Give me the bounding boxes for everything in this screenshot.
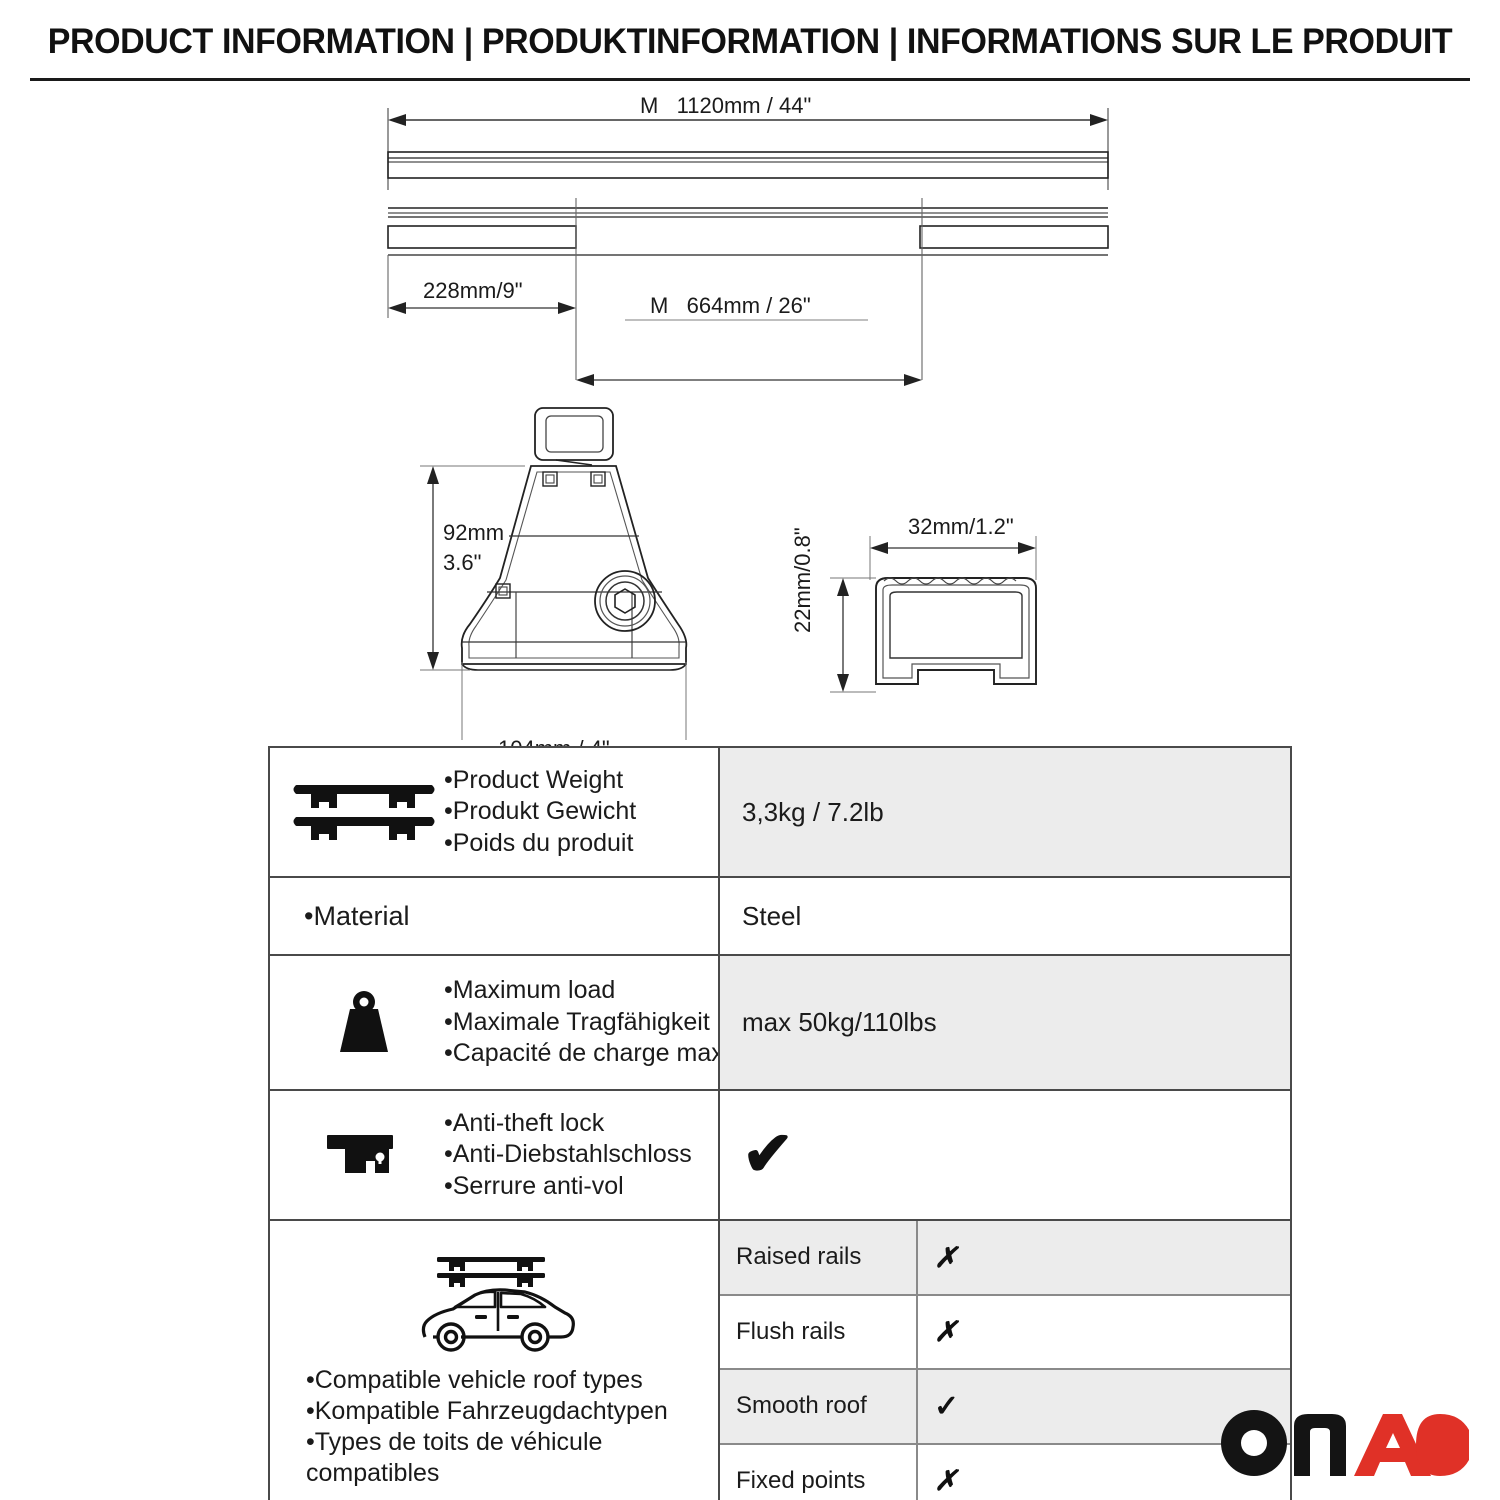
sub-row-label: Flush rails — [720, 1296, 916, 1369]
label-en: •Compatible vehicle roof types — [306, 1365, 708, 1396]
label-fr: •Types de toits de véhicule compatibles — [306, 1427, 708, 1489]
value-maximum-load: max 50kg/110lbs — [718, 956, 1290, 1089]
roof-row-labels: •Compatible vehicle roof types •Kompatib… — [280, 1365, 708, 1489]
omac-logo — [1220, 1406, 1472, 1480]
dim-profile-width: 32mm/1.2" — [908, 514, 1014, 540]
value-anti-theft-lock: ✔ — [718, 1091, 1290, 1219]
row-label-cell: •Product Weight •Produkt Gewicht •Poids … — [270, 748, 718, 876]
row-labels: •Anti-theft lock •Anti-Diebstahlschloss … — [444, 1108, 710, 1203]
label-de: •Kompatible Fahrzeugdachtypen — [306, 1396, 708, 1427]
drawing-svg — [0, 80, 1500, 740]
dim-foot-offset: 228mm/9" — [423, 278, 523, 304]
table-row-anti-theft-lock: •Anti-theft lock •Anti-Diebstahlschloss … — [270, 1091, 1290, 1221]
cross-icon: ✗ — [934, 1464, 957, 1497]
dim-value: 1120mm / 44" — [677, 93, 812, 118]
row-labels: •Material — [304, 899, 710, 933]
dim-foot-height: 92mm — [443, 520, 504, 546]
dim-foot-height-inch: 3.6" — [443, 550, 481, 576]
crossbars-icon — [284, 777, 444, 847]
logo-letter-m — [1294, 1414, 1346, 1476]
technical-drawing: M 1120mm / 44" 228mm/9" M 664mm / 26" 92… — [0, 80, 1500, 740]
dim-prefix-m2: M — [650, 293, 668, 318]
label-de: •Produkt Gewicht — [444, 796, 710, 828]
row-label-cell: •Compatible vehicle roof types •Kompatib… — [270, 1221, 718, 1500]
sub-row-raised-rails: Raised rails ✗ — [720, 1221, 1290, 1296]
row-labels: •Product Weight •Produkt Gewicht •Poids … — [444, 765, 710, 860]
specifications-table: •Product Weight •Produkt Gewicht •Poids … — [268, 746, 1292, 1500]
dim-bar-length: M 1120mm / 44" — [640, 93, 811, 119]
dim-profile-height: 22mm/0.8" — [790, 527, 816, 633]
omac-logo-svg — [1220, 1408, 1472, 1478]
sub-row-label: Smooth roof — [720, 1370, 916, 1443]
logo-letter-c — [1416, 1414, 1469, 1476]
sub-row-label: Fixed points — [720, 1445, 916, 1500]
sub-row-fixed-points: Fixed points ✗ — [720, 1445, 1290, 1500]
table-row-maximum-load: •Maximum load •Maximale Tragfähigkeit •C… — [270, 956, 1290, 1091]
checkmark-icon: ✔ — [742, 1124, 794, 1186]
table-row-product-weight: •Product Weight •Produkt Gewicht •Poids … — [270, 748, 1290, 878]
label-en: •Product Weight — [444, 765, 710, 797]
check-icon: ✓ — [934, 1389, 959, 1424]
lock-foot-icon — [284, 1125, 444, 1185]
dim-value2: 664mm / 26" — [687, 293, 811, 318]
label-de: •Anti-Diebstahlschloss — [444, 1139, 710, 1171]
dim-bar-spread: M 664mm / 26" — [650, 293, 811, 319]
product-information-page: PRODUCT INFORMATION | PRODUKTINFORMATION… — [0, 0, 1500, 1500]
sub-row-mark: ✗ — [916, 1221, 1290, 1294]
sub-row-flush-rails: Flush rails ✗ — [720, 1296, 1290, 1371]
label-fr: •Serrure anti-vol — [444, 1171, 710, 1203]
row-label-cell: •Maximum load •Maximale Tragfähigkeit •C… — [270, 956, 718, 1089]
label-fr: •Poids du produit — [444, 828, 710, 860]
sub-row-smooth-roof: Smooth roof ✓ — [720, 1370, 1290, 1445]
table-row-roof-types: •Compatible vehicle roof types •Kompatib… — [270, 1221, 1290, 1500]
roof-types-subtable: Raised rails ✗ Flush rails ✗ Smooth roof… — [718, 1221, 1290, 1500]
page-title: PRODUCT INFORMATION | PRODUKTINFORMATION… — [23, 22, 1478, 62]
cross-icon: ✗ — [934, 1315, 957, 1348]
sub-row-mark: ✗ — [916, 1296, 1290, 1369]
logo-letter-o — [1221, 1410, 1287, 1476]
sub-row-label: Raised rails — [720, 1221, 916, 1294]
weight-icon — [284, 989, 444, 1057]
value-material: Steel — [718, 878, 1290, 954]
value-product-weight: 3,3kg / 7.2lb — [718, 748, 1290, 876]
row-label-cell: •Material — [270, 878, 718, 954]
car-with-roofrack-icon — [280, 1249, 708, 1361]
label-material: •Material — [304, 899, 710, 933]
label-en: •Anti-theft lock — [444, 1108, 710, 1140]
row-label-cell: •Anti-theft lock •Anti-Diebstahlschloss … — [270, 1091, 718, 1219]
table-row-material: •Material Steel — [270, 878, 1290, 956]
dim-prefix-m: M — [640, 93, 658, 118]
cross-icon: ✗ — [934, 1241, 957, 1274]
